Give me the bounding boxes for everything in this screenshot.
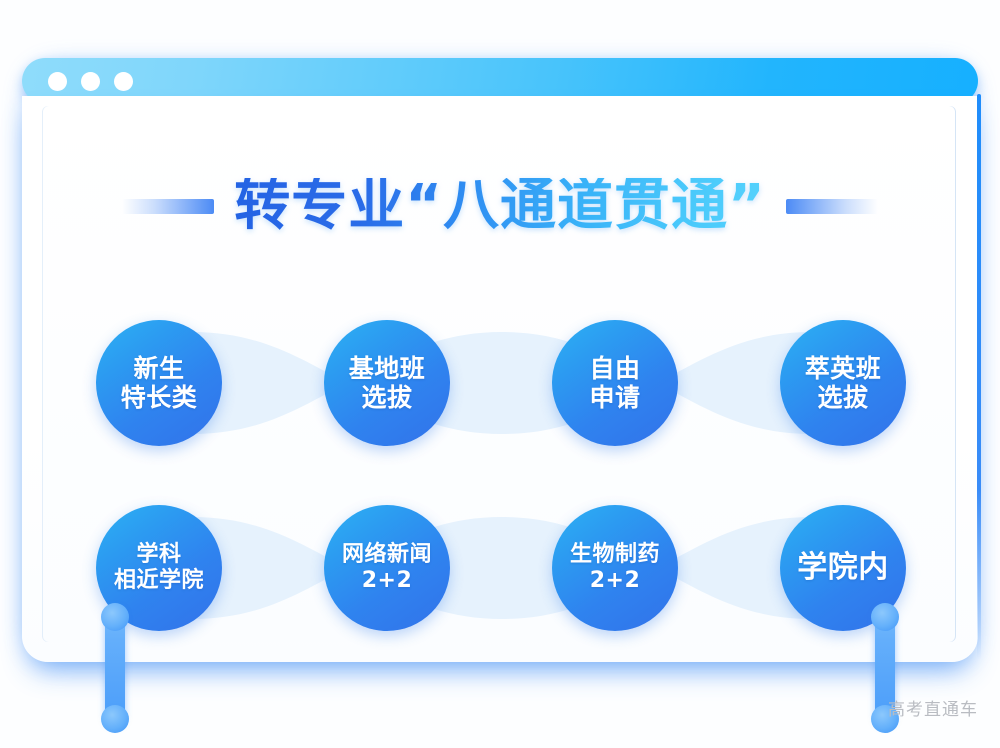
- window-dot-1-icon[interactable]: [48, 72, 67, 91]
- title-dash-right-icon: [786, 199, 878, 214]
- flow-node-row1-0[interactable]: 新生 特长类: [96, 320, 222, 446]
- page-title: 转专业“八通道贯通”: [234, 178, 766, 234]
- flow-node-label-line2: 申请: [589, 383, 640, 413]
- watermark: 高考直通车: [888, 695, 978, 720]
- stand-leg-left: [105, 608, 125, 726]
- window-dot-3-icon[interactable]: [114, 72, 133, 91]
- flow-node-label-line1: 网络新闻: [342, 542, 432, 568]
- flow-node-label-line2: 特长类: [121, 383, 198, 413]
- flow-node-label-line1: 基地班: [349, 354, 426, 384]
- flow-node-label-line1: 萃英班: [805, 354, 882, 384]
- title-dash-left-icon: [122, 199, 214, 214]
- flow-row-2: 学科 相近学院 网络新闻 2+2 生物制药 2+2 学院内: [96, 503, 906, 633]
- flow-node-label-line2: 2+2: [590, 568, 641, 594]
- flow-node-label-line2: 选拔: [361, 383, 412, 413]
- flow-connector-ribbon-row-1: [192, 320, 812, 446]
- flow-node-row1-1[interactable]: 基地班 选拔: [324, 320, 450, 446]
- flow-node-row1-3[interactable]: 萃英班 选拔: [780, 320, 906, 446]
- flow-node-label-line1: 新生: [133, 354, 184, 384]
- flow-node-row2-1[interactable]: 网络新闻 2+2: [324, 505, 450, 631]
- flow-node-label-line1: 自由: [589, 354, 640, 384]
- flow-node-label-line2: 2+2: [362, 568, 413, 594]
- window-body: 转专业“八通道贯通” 新生 特长类 基地班 选拔 自由 申请: [22, 96, 978, 662]
- window-controls: [48, 72, 133, 91]
- flow-node-row2-2[interactable]: 生物制药 2+2: [552, 505, 678, 631]
- flow-node-label-line1: 学科: [136, 542, 181, 568]
- infographic-stage: 转专业“八通道贯通” 新生 特长类 基地班 选拔 自由 申请: [0, 0, 1000, 748]
- window-dot-2-icon[interactable]: [81, 72, 100, 91]
- flow-node-label-line1: 生物制药: [570, 542, 660, 568]
- flow-node-label-line2: 选拔: [817, 383, 868, 413]
- flow-connector-ribbon-row-2: [192, 505, 812, 631]
- flow-node-label-line1: 学院内: [797, 550, 889, 585]
- flow-row-1: 新生 特长类 基地班 选拔 自由 申请 萃英班 选拔: [96, 318, 906, 448]
- flow-node-row1-2[interactable]: 自由 申请: [552, 320, 678, 446]
- page-title-row: 转专业“八通道贯通”: [22, 178, 978, 234]
- browser-window-card: 转专业“八通道贯通” 新生 特长类 基地班 选拔 自由 申请: [22, 58, 978, 662]
- flow-node-label-line2: 相近学院: [114, 568, 204, 594]
